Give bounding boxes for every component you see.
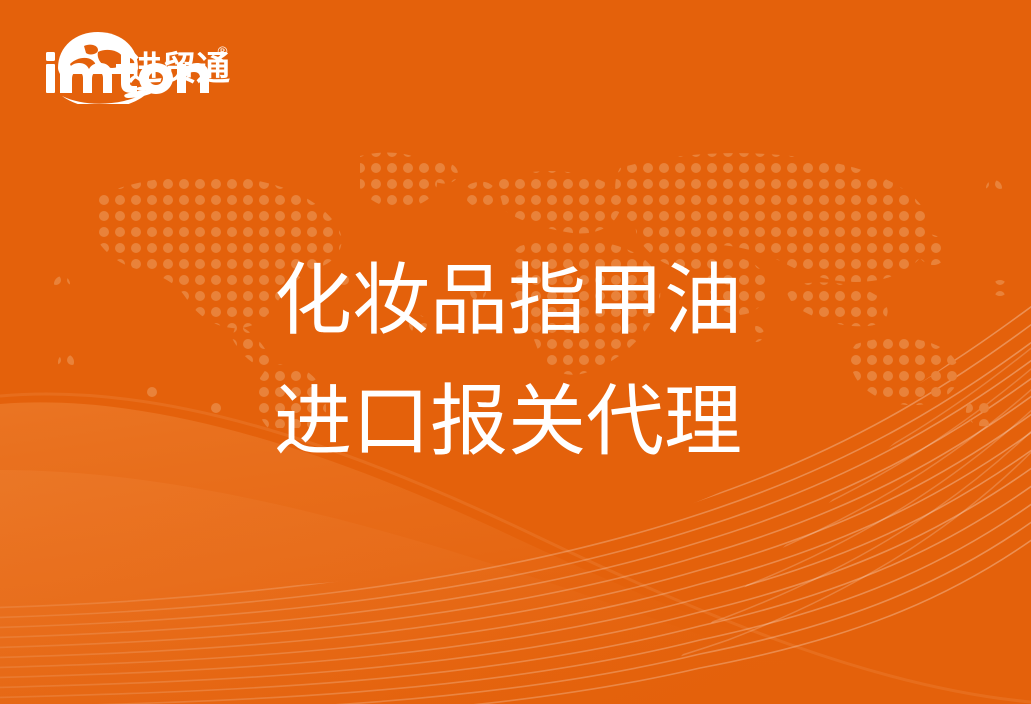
brand-chinese-name-wrap: 进贸通 ® (128, 47, 238, 91)
headline-line-1: 化妆品指甲油 (274, 262, 874, 340)
headline-block: 化妆品指甲油 进口报关代理 (274, 262, 874, 461)
registered-trademark-icon: ® (216, 45, 229, 60)
promo-banner: 进贸通 ® 化妆品指甲油 进口报关代理 (0, 0, 1031, 704)
headline-line-2: 进口报关代理 (274, 383, 874, 461)
brand-chinese-name: 进贸通 (128, 49, 230, 89)
